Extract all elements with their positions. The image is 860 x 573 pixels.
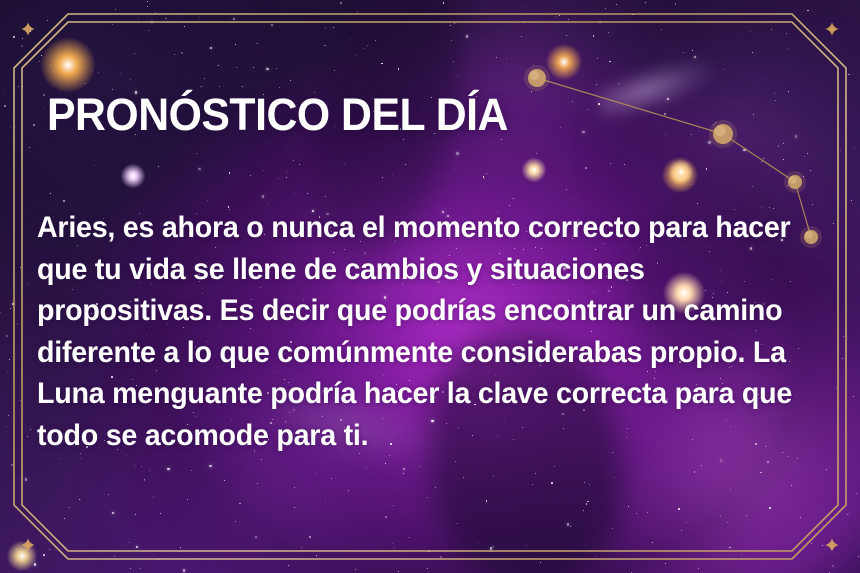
page-title: PRONÓSTICO DEL DÍA	[47, 92, 508, 137]
horoscope-body-text: Aries, es ahora o nunca el momento corre…	[37, 207, 803, 456]
horoscope-card: PRONÓSTICO DEL DÍA Aries, es ahora o nun…	[0, 0, 860, 573]
